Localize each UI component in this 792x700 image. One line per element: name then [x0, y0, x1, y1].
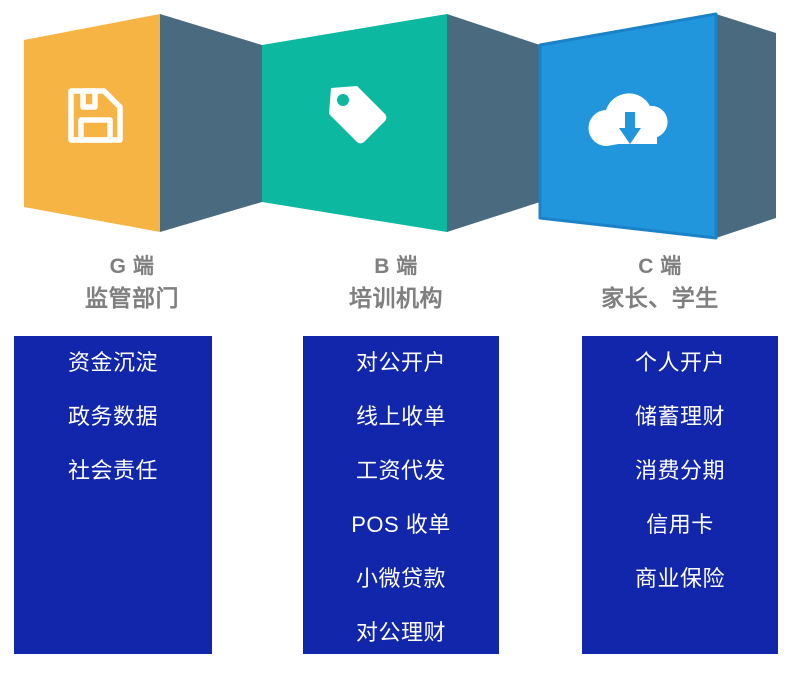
list-item: 对公开户	[303, 350, 499, 376]
list-item: 社会责任	[14, 458, 212, 484]
heading-name-c: 家长、学生	[528, 282, 792, 314]
list-item: 小微贷款	[303, 566, 499, 592]
headings-row: G 端 监管部门 B 端 培训机构 C 端 家长、学生	[0, 252, 792, 328]
service-list-box-g: 资金沉淀 政务数据 社会责任	[14, 336, 212, 654]
side-panel-gray-2	[447, 14, 540, 232]
side-panel-gray-1	[160, 14, 262, 232]
heading-code-b: B 端	[264, 252, 528, 282]
list-item: 信用卡	[582, 512, 778, 538]
heading-name-g: 监管部门	[0, 282, 264, 314]
heading-column-b: B 端 培训机构	[264, 252, 528, 328]
heading-column-c: C 端 家长、学生	[528, 252, 792, 328]
list-item: POS 收单	[303, 512, 499, 538]
list-item: 储蓄理财	[582, 404, 778, 430]
side-panel-gray-3	[716, 14, 776, 238]
three-d-panel-band	[0, 0, 792, 248]
service-list-box-c: 个人开户 储蓄理财 消费分期 信用卡 商业保险	[582, 336, 778, 654]
list-item: 商业保险	[303, 674, 499, 700]
heading-code-g: G 端	[0, 252, 264, 282]
list-item: 对公理财	[303, 620, 499, 646]
list-item: 资金沉淀	[14, 350, 212, 376]
list-item: 政务数据	[14, 404, 212, 430]
infographic-canvas: G 端 监管部门 B 端 培训机构 C 端 家长、学生 资金沉淀 政务数据 社会…	[0, 0, 792, 668]
list-item: 消费分期	[582, 458, 778, 484]
service-list-box-b: 对公开户 线上收单 工资代发 POS 收单 小微贷款 对公理财 商业保险	[303, 336, 499, 654]
panel-face-orange	[24, 14, 160, 232]
list-item: 工资代发	[303, 458, 499, 484]
heading-code-c: C 端	[528, 252, 792, 282]
heading-column-g: G 端 监管部门	[0, 252, 264, 328]
list-item: 线上收单	[303, 404, 499, 430]
list-item: 商业保险	[582, 566, 778, 592]
heading-name-b: 培训机构	[264, 282, 528, 314]
list-item: 个人开户	[582, 350, 778, 376]
